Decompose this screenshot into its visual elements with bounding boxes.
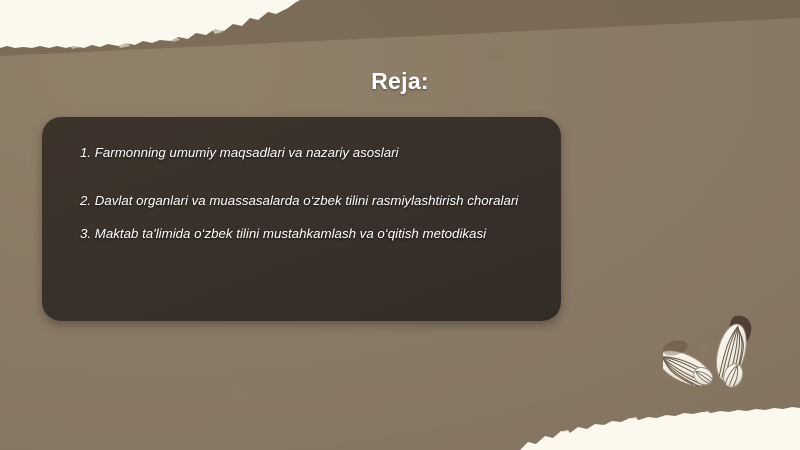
agenda-list: 1. Farmonning umumiy maqsadlari va nazar…	[80, 143, 610, 243]
list-item: 1. Farmonning umumiy maqsadlari va nazar…	[80, 143, 610, 162]
list-item: 2. Davlat organlari va muassasalarda o‘z…	[80, 191, 610, 210]
page-title: Reja:	[0, 68, 800, 95]
agenda-card: 1. Farmonning umumiy maqsadlari va nazar…	[42, 117, 561, 321]
list-item: 3. Maktab ta'limida o‘zbek tilini mustah…	[80, 224, 610, 243]
butterfly-icon	[663, 312, 773, 404]
presentation-slide: Reja: 1. Farmonning umumiy maqsadlari va…	[0, 0, 800, 450]
